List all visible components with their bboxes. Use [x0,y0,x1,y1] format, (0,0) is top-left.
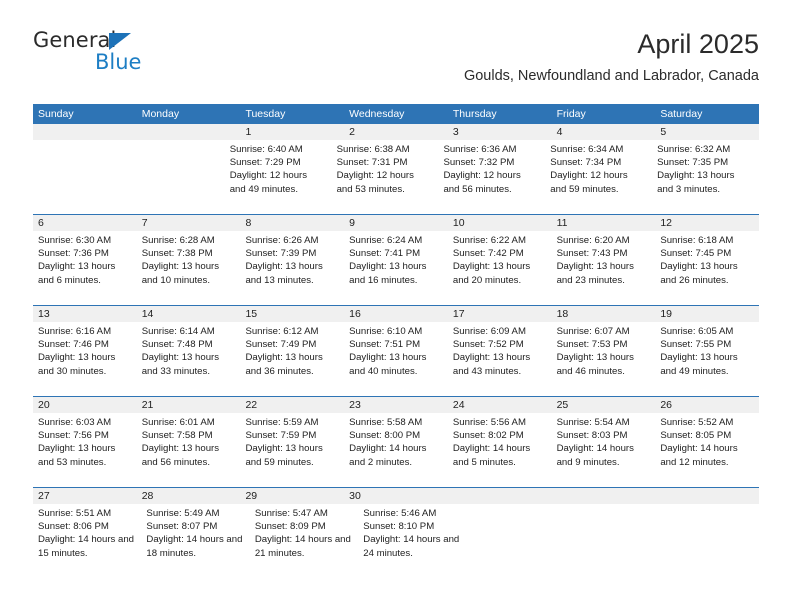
title-block: April 2025 Goulds, Newfoundland and Labr… [464,28,759,85]
sunrise-text: Sunrise: 5:54 AM [557,416,650,429]
sunrise-text: Sunrise: 6:10 AM [349,325,442,338]
day-number[interactable]: 9 [344,215,448,231]
sunset-text: Sunset: 8:10 PM [363,520,460,533]
daylight-text: Daylight: 14 hours and 24 minutes. [363,533,460,559]
sunrise-text: Sunrise: 6:18 AM [660,234,753,247]
sunset-text: Sunset: 7:35 PM [657,156,753,169]
sunrise-text: Sunrise: 6:14 AM [142,325,235,338]
daylight-text: Daylight: 13 hours and 16 minutes. [349,260,442,286]
day-cell[interactable]: Sunrise: 5:49 AMSunset: 8:07 PMDaylight:… [141,504,249,578]
day-detail-band: Sunrise: 6:40 AMSunset: 7:29 PMDaylight:… [33,140,759,214]
day-cell[interactable]: Sunrise: 6:09 AMSunset: 7:52 PMDaylight:… [448,322,552,396]
daylight-text: Daylight: 12 hours and 53 minutes. [337,169,433,195]
day-number[interactable]: 30 [344,488,448,504]
day-cell[interactable]: Sunrise: 6:40 AMSunset: 7:29 PMDaylight:… [225,140,332,214]
sunrise-text: Sunrise: 5:46 AM [363,507,460,520]
daylight-text: Daylight: 14 hours and 12 minutes. [660,442,753,468]
day-number[interactable]: 17 [448,306,552,322]
day-cell[interactable]: Sunrise: 6:34 AMSunset: 7:34 PMDaylight:… [545,140,652,214]
day-cell[interactable]: Sunrise: 6:38 AMSunset: 7:31 PMDaylight:… [332,140,439,214]
daylight-text: Daylight: 14 hours and 5 minutes. [453,442,546,468]
day-cell[interactable]: Sunrise: 5:47 AMSunset: 8:09 PMDaylight:… [250,504,358,578]
week-row: 12345Sunrise: 6:40 AMSunset: 7:29 PMDayl… [33,124,759,214]
weekday-header-tuesday: Tuesday [240,104,344,124]
daylight-text: Daylight: 13 hours and 33 minutes. [142,351,235,377]
daylight-text: Daylight: 13 hours and 59 minutes. [245,442,338,468]
daylight-text: Daylight: 14 hours and 18 minutes. [146,533,243,559]
day-cell[interactable]: Sunrise: 6:03 AMSunset: 7:56 PMDaylight:… [33,413,137,487]
day-cell[interactable]: Sunrise: 6:07 AMSunset: 7:53 PMDaylight:… [552,322,656,396]
sunset-text: Sunset: 7:31 PM [337,156,433,169]
day-cell[interactable]: Sunrise: 6:01 AMSunset: 7:58 PMDaylight:… [137,413,241,487]
page-subtitle: Goulds, Newfoundland and Labrador, Canad… [464,67,759,85]
day-number[interactable]: 27 [33,488,137,504]
date-number-band: 13141516171819 [33,306,759,322]
sunset-text: Sunset: 7:46 PM [38,338,131,351]
day-detail-band: Sunrise: 6:30 AMSunset: 7:36 PMDaylight:… [33,231,759,305]
daylight-text: Daylight: 14 hours and 21 minutes. [255,533,352,559]
sunrise-text: Sunrise: 5:47 AM [255,507,352,520]
calendar-weeks: 12345Sunrise: 6:40 AMSunset: 7:29 PMDayl… [33,124,759,578]
weekday-header-sunday: Sunday [33,104,137,124]
day-cell[interactable]: Sunrise: 5:59 AMSunset: 7:59 PMDaylight:… [240,413,344,487]
day-cell[interactable]: Sunrise: 6:28 AMSunset: 7:38 PMDaylight:… [137,231,241,305]
day-cell[interactable]: Sunrise: 6:20 AMSunset: 7:43 PMDaylight:… [552,231,656,305]
sunrise-text: Sunrise: 6:07 AM [557,325,650,338]
sunrise-text: Sunrise: 5:52 AM [660,416,753,429]
empty-day-cell [33,140,129,214]
sunrise-text: Sunrise: 6:20 AM [557,234,650,247]
day-detail-band: Sunrise: 5:51 AMSunset: 8:06 PMDaylight:… [33,504,759,578]
daylight-text: Daylight: 13 hours and 56 minutes. [142,442,235,468]
daylight-text: Daylight: 12 hours and 59 minutes. [550,169,646,195]
daylight-text: Daylight: 13 hours and 40 minutes. [349,351,442,377]
weekday-header-wednesday: Wednesday [344,104,448,124]
sunset-text: Sunset: 8:05 PM [660,429,753,442]
day-number[interactable]: 19 [655,306,759,322]
day-cell[interactable]: Sunrise: 5:56 AMSunset: 8:02 PMDaylight:… [448,413,552,487]
sunset-text: Sunset: 7:32 PM [443,156,539,169]
day-cell[interactable]: Sunrise: 6:36 AMSunset: 7:32 PMDaylight:… [438,140,545,214]
day-cell[interactable]: Sunrise: 5:58 AMSunset: 8:00 PMDaylight:… [344,413,448,487]
daylight-text: Daylight: 13 hours and 6 minutes. [38,260,131,286]
daylight-text: Daylight: 13 hours and 53 minutes. [38,442,131,468]
day-number[interactable]: 23 [344,397,448,413]
day-cell[interactable]: Sunrise: 6:24 AMSunset: 7:41 PMDaylight:… [344,231,448,305]
sunrise-text: Sunrise: 6:28 AM [142,234,235,247]
sunrise-text: Sunrise: 6:38 AM [337,143,433,156]
day-number[interactable]: 16 [344,306,448,322]
sunset-text: Sunset: 7:41 PM [349,247,442,260]
daylight-text: Daylight: 14 hours and 9 minutes. [557,442,650,468]
empty-day-number [552,488,656,504]
daylight-text: Daylight: 14 hours and 15 minutes. [38,533,135,559]
date-number-band: 20212223242526 [33,397,759,413]
sunrise-text: Sunrise: 6:01 AM [142,416,235,429]
page-title: April 2025 [464,28,759,60]
sunset-text: Sunset: 8:00 PM [349,429,442,442]
weekday-header-saturday: Saturday [655,104,759,124]
sunset-text: Sunset: 8:09 PM [255,520,352,533]
sunrise-text: Sunrise: 6:12 AM [245,325,338,338]
daylight-text: Daylight: 14 hours and 2 minutes. [349,442,442,468]
day-number[interactable]: 10 [448,215,552,231]
day-number[interactable]: 15 [240,306,344,322]
daylight-text: Daylight: 13 hours and 43 minutes. [453,351,546,377]
daylight-text: Daylight: 13 hours and 23 minutes. [557,260,650,286]
day-cell[interactable]: Sunrise: 6:22 AMSunset: 7:42 PMDaylight:… [448,231,552,305]
daylight-text: Daylight: 13 hours and 49 minutes. [660,351,753,377]
day-number[interactable]: 13 [33,306,137,322]
empty-day-cell [662,504,759,578]
sunrise-text: Sunrise: 6:32 AM [657,143,753,156]
day-number[interactable]: 4 [552,124,656,140]
daylight-text: Daylight: 13 hours and 36 minutes. [245,351,338,377]
empty-day-cell [564,504,661,578]
day-cell[interactable]: Sunrise: 5:52 AMSunset: 8:05 PMDaylight:… [655,413,759,487]
week-row: 20212223242526Sunrise: 6:03 AMSunset: 7:… [33,396,759,487]
sunrise-text: Sunrise: 6:30 AM [38,234,131,247]
day-number[interactable]: 6 [33,215,137,231]
day-number[interactable]: 21 [137,397,241,413]
date-number-band: 12345 [33,124,759,140]
sunset-text: Sunset: 7:48 PM [142,338,235,351]
day-number[interactable]: 14 [137,306,241,322]
day-number[interactable]: 22 [240,397,344,413]
sunrise-text: Sunrise: 5:51 AM [38,507,135,520]
date-number-band: 27282930 [33,488,759,504]
day-number[interactable]: 11 [552,215,656,231]
day-cell[interactable]: Sunrise: 6:18 AMSunset: 7:45 PMDaylight:… [655,231,759,305]
logo-text-blue: Blue [95,50,141,74]
sunset-text: Sunset: 8:03 PM [557,429,650,442]
weekday-header-monday: Monday [137,104,241,124]
sunset-text: Sunset: 7:43 PM [557,247,650,260]
day-cell[interactable]: Sunrise: 6:10 AMSunset: 7:51 PMDaylight:… [344,322,448,396]
sunset-text: Sunset: 7:29 PM [230,156,326,169]
day-number[interactable]: 20 [33,397,137,413]
sunrise-text: Sunrise: 6:22 AM [453,234,546,247]
day-cell[interactable]: Sunrise: 5:54 AMSunset: 8:03 PMDaylight:… [552,413,656,487]
daylight-text: Daylight: 13 hours and 30 minutes. [38,351,131,377]
empty-day-cell [129,140,225,214]
daylight-text: Daylight: 12 hours and 49 minutes. [230,169,326,195]
day-cell[interactable]: Sunrise: 6:12 AMSunset: 7:49 PMDaylight:… [240,322,344,396]
day-number[interactable]: 28 [137,488,241,504]
page-header: General Blue April 2025 Goulds, Newfound… [33,28,759,90]
sunrise-text: Sunrise: 6:40 AM [230,143,326,156]
day-cell[interactable]: Sunrise: 6:05 AMSunset: 7:55 PMDaylight:… [655,322,759,396]
day-number[interactable]: 18 [552,306,656,322]
day-cell[interactable]: Sunrise: 5:46 AMSunset: 8:10 PMDaylight:… [358,504,466,578]
sunset-text: Sunset: 7:53 PM [557,338,650,351]
daylight-text: Daylight: 13 hours and 3 minutes. [657,169,753,195]
sunrise-text: Sunrise: 6:34 AM [550,143,646,156]
sunset-text: Sunset: 7:34 PM [550,156,646,169]
sunset-text: Sunset: 7:38 PM [142,247,235,260]
daylight-text: Daylight: 13 hours and 46 minutes. [557,351,650,377]
day-cell[interactable]: Sunrise: 6:26 AMSunset: 7:39 PMDaylight:… [240,231,344,305]
calendar-page: General Blue April 2025 Goulds, Newfound… [0,0,792,612]
daylight-text: Daylight: 13 hours and 20 minutes. [453,260,546,286]
sunset-text: Sunset: 7:59 PM [245,429,338,442]
day-cell[interactable]: Sunrise: 6:30 AMSunset: 7:36 PMDaylight:… [33,231,137,305]
sunrise-text: Sunrise: 5:58 AM [349,416,442,429]
day-number[interactable]: 8 [240,215,344,231]
weekday-header-thursday: Thursday [448,104,552,124]
empty-day-number [137,124,241,140]
calendar-grid: SundayMondayTuesdayWednesdayThursdayFrid… [33,104,759,578]
empty-day-number [448,488,552,504]
day-number[interactable]: 7 [137,215,241,231]
day-number[interactable]: 24 [448,397,552,413]
sunrise-text: Sunrise: 6:09 AM [453,325,546,338]
day-number[interactable]: 1 [240,124,344,140]
week-row: 6789101112Sunrise: 6:30 AMSunset: 7:36 P… [33,214,759,305]
logo-text-general: General [33,28,116,52]
sunrise-text: Sunrise: 5:56 AM [453,416,546,429]
triangle-flag-icon [109,33,131,50]
sunrise-text: Sunrise: 5:49 AM [146,507,243,520]
sunset-text: Sunset: 7:51 PM [349,338,442,351]
day-cell[interactable]: Sunrise: 6:14 AMSunset: 7:48 PMDaylight:… [137,322,241,396]
day-number[interactable]: 3 [448,124,552,140]
sunrise-text: Sunrise: 6:26 AM [245,234,338,247]
empty-day-number [655,488,759,504]
daylight-text: Daylight: 13 hours and 10 minutes. [142,260,235,286]
day-cell[interactable]: Sunrise: 6:32 AMSunset: 7:35 PMDaylight:… [652,140,759,214]
sunset-text: Sunset: 8:07 PM [146,520,243,533]
daylight-text: Daylight: 13 hours and 13 minutes. [245,260,338,286]
general-blue-logo[interactable]: General Blue [33,28,253,84]
sunrise-text: Sunrise: 6:05 AM [660,325,753,338]
daylight-text: Daylight: 13 hours and 26 minutes. [660,260,753,286]
sunrise-text: Sunrise: 6:24 AM [349,234,442,247]
sunset-text: Sunset: 7:58 PM [142,429,235,442]
sunset-text: Sunset: 7:36 PM [38,247,131,260]
sunset-text: Sunset: 7:52 PM [453,338,546,351]
day-number[interactable]: 12 [655,215,759,231]
sunset-text: Sunset: 7:49 PM [245,338,338,351]
sunset-text: Sunset: 8:02 PM [453,429,546,442]
sunrise-text: Sunrise: 5:59 AM [245,416,338,429]
sunrise-text: Sunrise: 6:36 AM [443,143,539,156]
sunset-text: Sunset: 7:42 PM [453,247,546,260]
day-detail-band: Sunrise: 6:03 AMSunset: 7:56 PMDaylight:… [33,413,759,487]
weekday-header-friday: Friday [552,104,656,124]
sunset-text: Sunset: 7:39 PM [245,247,338,260]
day-number[interactable]: 2 [344,124,448,140]
day-number[interactable]: 25 [552,397,656,413]
sunset-text: Sunset: 7:56 PM [38,429,131,442]
empty-day-number [33,124,137,140]
day-number[interactable]: 26 [655,397,759,413]
week-row: 27282930Sunrise: 5:51 AMSunset: 8:06 PMD… [33,487,759,578]
weekday-header-row: SundayMondayTuesdayWednesdayThursdayFrid… [33,104,759,124]
daylight-text: Daylight: 12 hours and 56 minutes. [443,169,539,195]
sunset-text: Sunset: 7:45 PM [660,247,753,260]
day-cell[interactable]: Sunrise: 5:51 AMSunset: 8:06 PMDaylight:… [33,504,141,578]
sunrise-text: Sunrise: 6:03 AM [38,416,131,429]
sunset-text: Sunset: 7:55 PM [660,338,753,351]
day-cell[interactable]: Sunrise: 6:16 AMSunset: 7:46 PMDaylight:… [33,322,137,396]
day-detail-band: Sunrise: 6:16 AMSunset: 7:46 PMDaylight:… [33,322,759,396]
date-number-band: 6789101112 [33,215,759,231]
sunrise-text: Sunrise: 6:16 AM [38,325,131,338]
sunset-text: Sunset: 8:06 PM [38,520,135,533]
day-number[interactable]: 5 [655,124,759,140]
day-number[interactable]: 29 [240,488,344,504]
empty-day-cell [467,504,564,578]
week-row: 13141516171819Sunrise: 6:16 AMSunset: 7:… [33,305,759,396]
